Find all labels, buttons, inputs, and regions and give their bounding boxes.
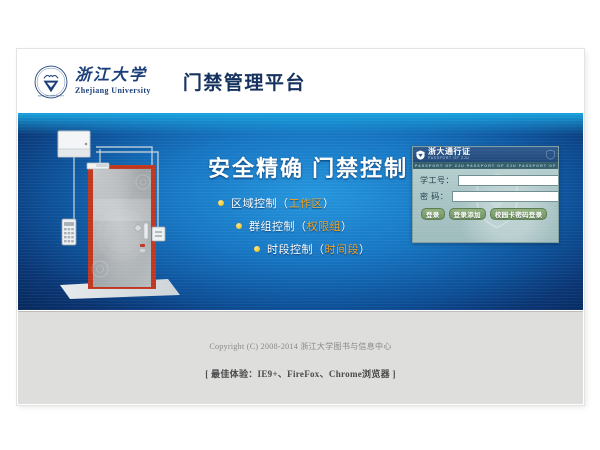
login-form: 学工号： 密 码： [413,169,558,202]
door-access-control-illustration [40,127,200,307]
page-title: 门禁管理平台 [183,68,306,95]
login-field-row-id: 学工号： [420,175,551,186]
feature-label-close: ） [323,195,335,211]
campus-card-password-login-button[interactable]: 校园卡密码登录 [490,208,548,220]
feature-label-main: 时段控制（ [267,241,325,257]
logo-text-block: 浙江大学 Zhejiang University [75,68,151,95]
svg-text:ZHEJIANG UNIVERSITY: ZHEJIANG UNIVERSITY [38,94,65,97]
feature-label-main: 区域控制（ [231,195,289,211]
login-panel: 浙大通行证 PASSPORT OF ZJU PASSPORT OF ZJU PA… [412,146,559,243]
feature-item-group-control: 群组控制（ 权限组 ） [214,218,414,234]
login-panel-title-cn: 浙大通行证 [428,148,471,156]
logo-chinese-name: 浙江大学 [75,68,151,85]
password-label: 密 码： [420,191,448,202]
login-panel-titles: 浙大通行证 PASSPORT OF ZJU [428,148,471,160]
student-staff-id-input[interactable] [458,175,559,186]
login-field-row-password: 密 码： [420,191,551,202]
feature-label-main: 群组控制（ [249,218,307,234]
login-button-row: 登录 登录添加 校园卡密码登录 [413,207,558,220]
feature-label-close: ） [341,218,353,234]
copyright-text: Copyright (C) 2008-2014 浙江大学图书与信息中心 [209,341,391,352]
university-logo[interactable]: ZHEJIANG UNIVERSITY 浙江大学 Zhejiang Univer… [34,65,151,99]
feature-item-area-control: 区域控制（ 工作区 ） [214,195,414,211]
student-staff-id-label: 学工号： [420,175,454,186]
feature-label-sub: 工作区 [289,195,324,211]
bullet-dot-icon [218,200,224,206]
logo-english-name: Zhejiang University [75,86,151,96]
shield-icon [416,150,425,160]
site-footer: Copyright (C) 2008-2014 浙江大学图书与信息中心 [ 最佳… [18,311,583,404]
password-input[interactable] [452,191,559,202]
banner-feature-list: 区域控制（ 工作区 ） 群组控制（ 权限组 ） 时段控制（ 时间段 ） [214,195,414,264]
login-panel-header: 浙大通行证 PASSPORT OF ZJU [413,147,558,162]
banner-headline: 安全精确 门禁控制 [208,151,408,183]
page-root: ZHEJIANG UNIVERSITY 浙江大学 Zhejiang Univer… [0,0,600,450]
hero-banner: 安全精确 门禁控制 区域控制（ 工作区 ） 群组控制（ 权限组 ） 时段控制（ … [18,113,583,310]
feature-label-sub: 时间段 [325,241,360,257]
shield-corner-icon [546,149,555,160]
bullet-dot-icon [236,223,242,229]
login-add-button[interactable]: 登录添加 [449,208,486,220]
browser-compatibility-note: [ 最佳体验：IE9+、FireFox、Chrome浏览器 ] [205,367,396,380]
feature-item-time-control: 时段控制（ 时间段 ） [214,241,414,257]
zju-seal-icon: ZHEJIANG UNIVERSITY [34,65,68,99]
login-button[interactable]: 登录 [421,208,445,220]
login-panel-title-en: PASSPORT OF ZJU [428,157,471,160]
passport-watermark-strip: PASSPORT OF ZJU PASSPORT OF ZJU PASSPORT… [413,162,558,169]
bullet-dot-icon [254,246,260,252]
site-header: ZHEJIANG UNIVERSITY 浙江大学 Zhejiang Univer… [18,50,583,113]
feature-label-sub: 权限组 [307,218,342,234]
feature-label-close: ） [359,241,371,257]
